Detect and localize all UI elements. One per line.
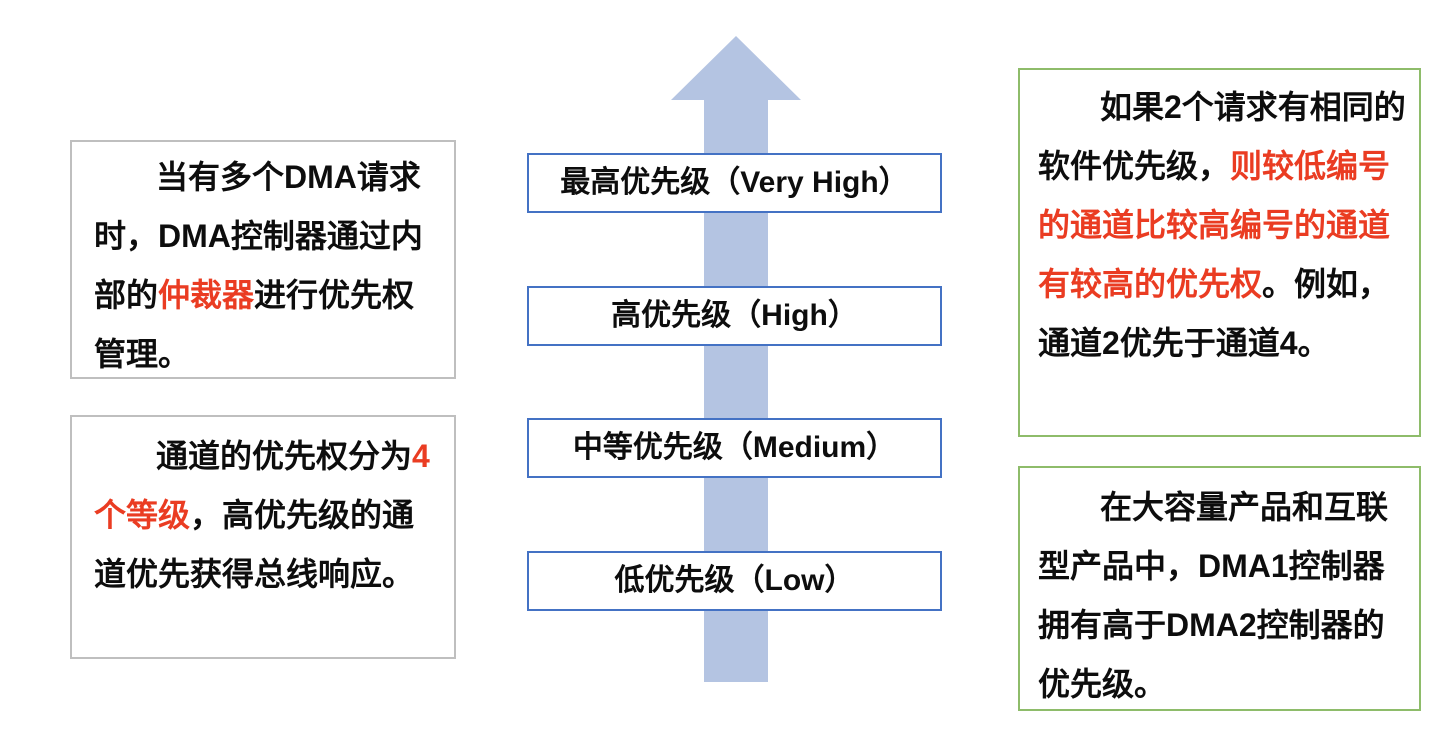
note-text-channel-priority-levels: 通道的优先权分为4个等级，高优先级的通道优先获得总线响应。 (72, 417, 454, 604)
note-segment-text: 通道的优先权分为 (156, 438, 412, 474)
priority-level-medium[interactable]: 中等优先级（Medium） (527, 418, 942, 478)
priority-level-label: 中等优先级（Medium） (573, 433, 896, 463)
slide-canvas: 当有多个DMA请求时，DMA控制器通过内部的仲裁器进行优先权管理。 通道的优先权… (0, 0, 1446, 748)
note-text-dma-arbiter: 当有多个DMA请求时，DMA控制器通过内部的仲裁器进行优先权管理。 (72, 142, 454, 384)
priority-level-high[interactable]: 高优先级（High） (527, 286, 942, 346)
note-box-channel-priority-levels: 通道的优先权分为4个等级，高优先级的通道优先获得总线响应。 (70, 415, 456, 659)
note-box-dma-arbiter: 当有多个DMA请求时，DMA控制器通过内部的仲裁器进行优先权管理。 (70, 140, 456, 379)
priority-level-label: 低优先级（Low） (615, 566, 855, 596)
priority-level-very-high[interactable]: 最高优先级（Very High） (527, 153, 942, 213)
note-segment-text: 在大容量产品和互联型产品中，DMA1控制器拥有高于DMA2控制器的优先级。 (1038, 489, 1388, 702)
note-text-same-software-priority: 如果2个请求有相同的软件优先级，则较低编号的通道比较高编号的通道有较高的优先权。… (1020, 70, 1419, 373)
priority-level-low[interactable]: 低优先级（Low） (527, 551, 942, 611)
priority-level-label: 高优先级（High） (611, 301, 858, 331)
note-segment-highlight: 仲裁器 (158, 277, 254, 313)
note-box-dma1-over-dma2: 在大容量产品和互联型产品中，DMA1控制器拥有高于DMA2控制器的优先级。 (1018, 466, 1421, 711)
note-text-dma1-over-dma2: 在大容量产品和互联型产品中，DMA1控制器拥有高于DMA2控制器的优先级。 (1020, 468, 1419, 714)
note-box-same-software-priority: 如果2个请求有相同的软件优先级，则较低编号的通道比较高编号的通道有较高的优先权。… (1018, 68, 1421, 437)
priority-level-label: 最高优先级（Very High） (560, 168, 908, 198)
